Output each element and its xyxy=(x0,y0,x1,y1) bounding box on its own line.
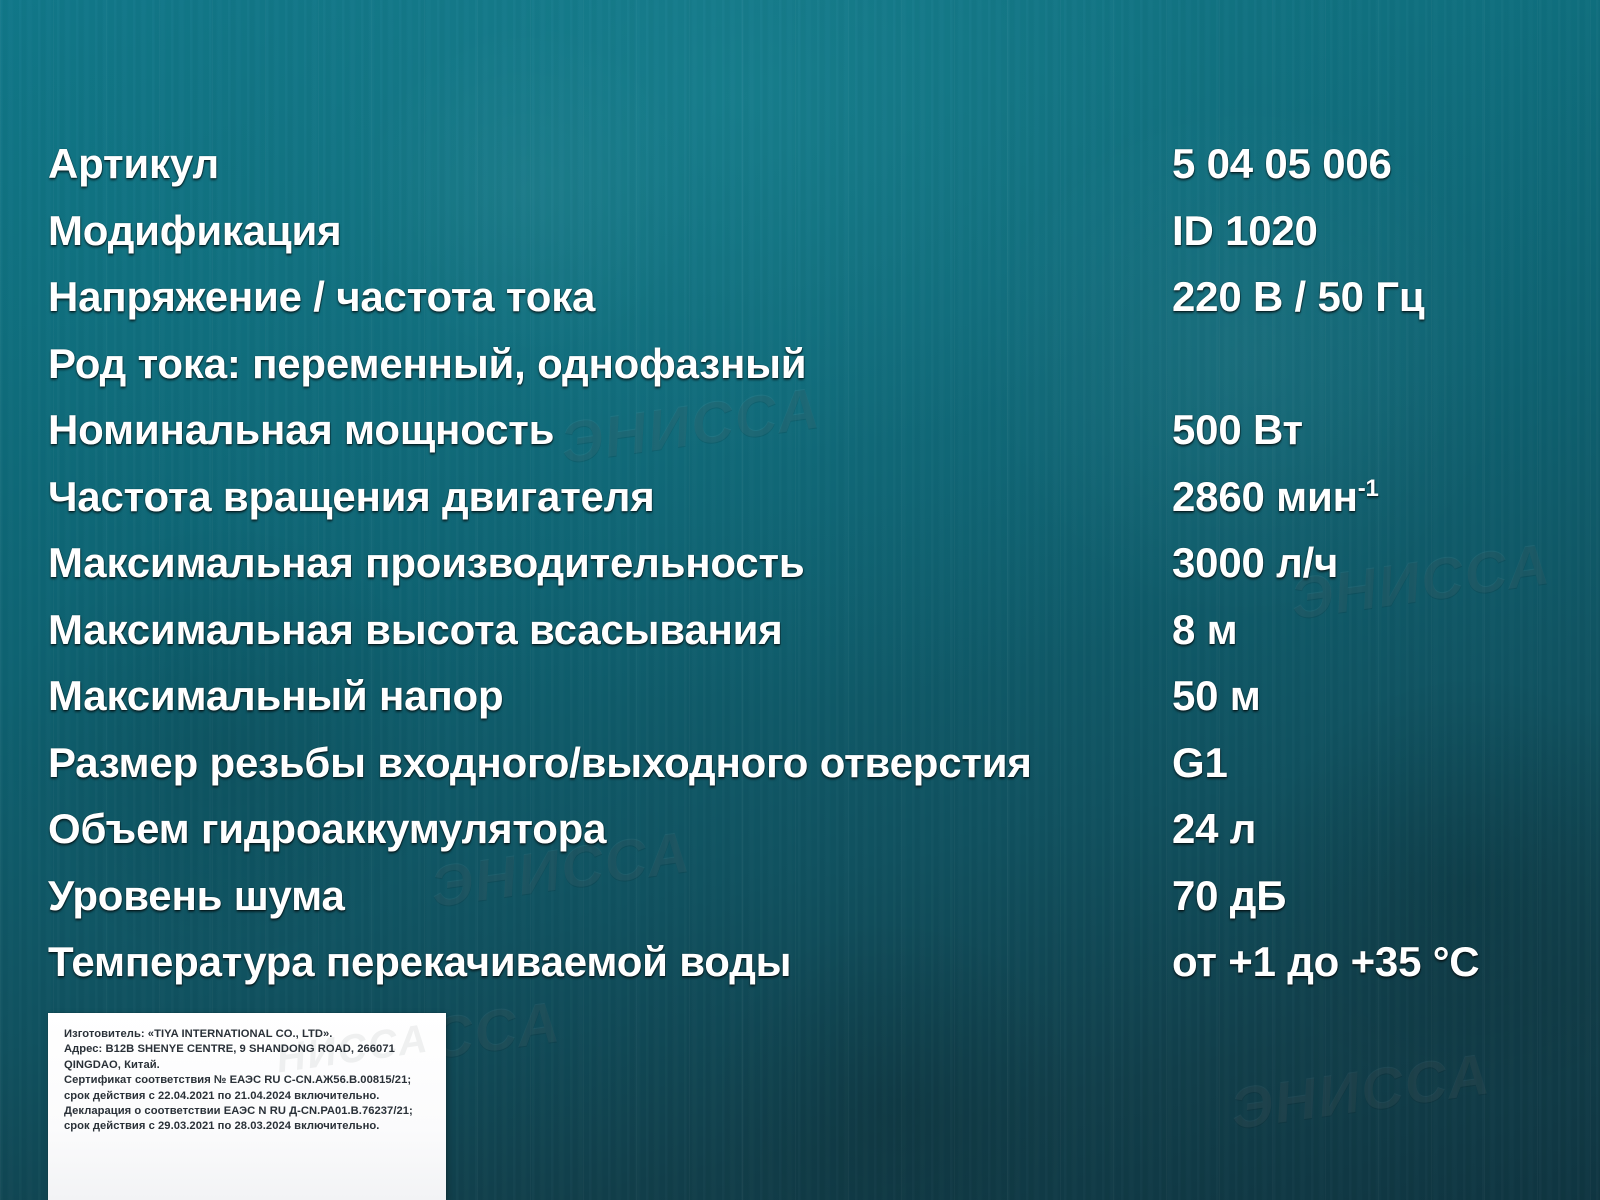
certification-label-line: Сертификат соответствия № ЕАЭС RU C-CN.А… xyxy=(64,1073,434,1088)
spec-value: 220 В / 50 Гц xyxy=(1172,265,1425,329)
spec-value-text: 220 В / 50 Гц xyxy=(1172,273,1425,320)
spec-value: 8 м xyxy=(1172,598,1238,662)
spec-label: Модификация xyxy=(48,199,341,263)
spec-value-text: 3000 л/ч xyxy=(1172,539,1338,586)
spec-row: Максимальная производительность3000 л/ч xyxy=(0,531,1600,595)
background-watermark: ЭНИССА xyxy=(1227,1040,1495,1143)
spec-label: Максимальный напор xyxy=(48,664,503,728)
spec-value-text: 500 Вт xyxy=(1172,406,1303,453)
spec-row: Номинальная мощность500 Вт xyxy=(0,398,1600,462)
spec-value-text: 24 л xyxy=(1172,805,1256,852)
spec-value: ID 1020 xyxy=(1172,199,1318,263)
spec-row: Род тока: переменный, однофазный xyxy=(0,332,1600,396)
certification-label-line: Адрес: B12B SHENYE CENTRE, 9 SHANDONG RO… xyxy=(64,1042,434,1057)
spec-label: Частота вращения двигателя xyxy=(48,465,655,529)
certification-label-text: Изготовитель: «TIYA INTERNATIONAL CO., L… xyxy=(64,1027,434,1135)
spec-value: 5 04 05 006 xyxy=(1172,132,1392,196)
spec-row: Максимальный напор50 м xyxy=(0,664,1600,728)
spec-value-text: 8 м xyxy=(1172,606,1238,653)
spec-row: Артикул5 04 05 006 xyxy=(0,132,1600,196)
certification-label: НИССА Изготовитель: «TIYA INTERNATIONAL … xyxy=(48,1013,446,1200)
spec-label: Температура перекачиваемой воды xyxy=(48,930,791,994)
spec-label: Размер резьбы входного/выходного отверст… xyxy=(48,731,1032,795)
spec-label: Уровень шума xyxy=(48,864,345,928)
spec-value-exponent: -1 xyxy=(1358,475,1379,502)
spec-row: Уровень шума70 дБ xyxy=(0,864,1600,928)
spec-row: Объем гидроаккумулятора24 л xyxy=(0,797,1600,861)
spec-label: Объем гидроаккумулятора xyxy=(48,797,606,861)
spec-value-text: 70 дБ xyxy=(1172,872,1286,919)
spec-label: Номинальная мощность xyxy=(48,398,554,462)
spec-value: 2860 мин-1 xyxy=(1172,465,1379,529)
certification-label-line: Декларация о соответствии ЕАЭС N RU Д-CN… xyxy=(64,1104,434,1119)
spec-value-text: ID 1020 xyxy=(1172,207,1318,254)
spec-row: Частота вращения двигателя2860 мин-1 xyxy=(0,465,1600,529)
spec-value: 3000 л/ч xyxy=(1172,531,1338,595)
spec-value-text: 2860 мин xyxy=(1172,473,1358,520)
certification-label-line: Изготовитель: «TIYA INTERNATIONAL CO., L… xyxy=(64,1027,434,1042)
spec-value: 500 Вт xyxy=(1172,398,1303,462)
spec-value: от +1 до +35 °C xyxy=(1172,930,1479,994)
certification-label-line: срок действия с 29.03.2021 по 28.03.2024… xyxy=(64,1119,434,1134)
specification-table: Артикул5 04 05 006МодификацияID 1020Напр… xyxy=(0,0,1600,1010)
certification-label-line: QINGDAO, Китай. xyxy=(64,1058,434,1073)
spec-value-text: 5 04 05 006 xyxy=(1172,140,1392,187)
spec-row: Температура перекачиваемой водыот +1 до … xyxy=(0,930,1600,994)
spec-value: 50 м xyxy=(1172,664,1261,728)
spec-value-text: G1 xyxy=(1172,739,1228,786)
spec-value: G1 xyxy=(1172,731,1228,795)
spec-label: Максимальная высота всасывания xyxy=(48,598,783,662)
product-spec-panel: ЭНИССАЭНИССАЭНИССАЭНИССАЭНИССА Артикул5 … xyxy=(0,0,1600,1200)
spec-row: Напряжение / частота тока220 В / 50 Гц xyxy=(0,265,1600,329)
spec-value: 70 дБ xyxy=(1172,864,1286,928)
spec-label: Артикул xyxy=(48,132,219,196)
spec-row: МодификацияID 1020 xyxy=(0,199,1600,263)
spec-label: Род тока: переменный, однофазный xyxy=(48,332,806,396)
spec-value: 24 л xyxy=(1172,797,1256,861)
certification-label-line: срок действия с 22.04.2021 по 21.04.2024… xyxy=(64,1089,434,1104)
spec-row: Максимальная высота всасывания8 м xyxy=(0,598,1600,662)
spec-label: Напряжение / частота тока xyxy=(48,265,595,329)
spec-label: Максимальная производительность xyxy=(48,531,804,595)
spec-row: Размер резьбы входного/выходного отверст… xyxy=(0,731,1600,795)
spec-value-text: 50 м xyxy=(1172,672,1261,719)
spec-value-text: от +1 до +35 °C xyxy=(1172,938,1479,985)
